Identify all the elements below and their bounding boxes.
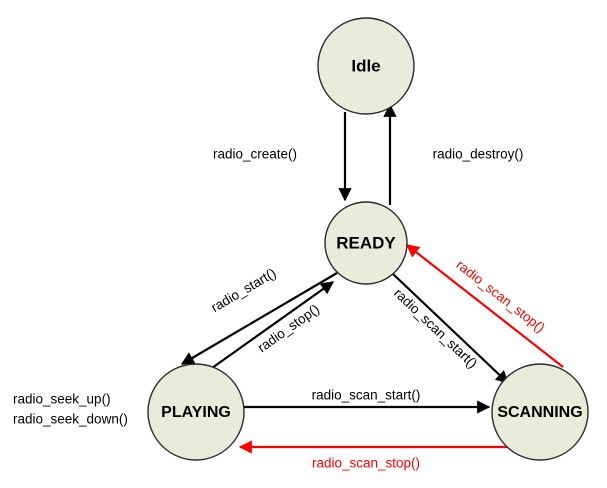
state-node-ready-label: READY (336, 233, 396, 252)
transition-radio-destroy: radio_destroy() (390, 105, 523, 205)
transition-radio-destroy-label: radio_destroy() (433, 147, 524, 162)
transition-radio-create: radio_create() (213, 112, 345, 200)
annotation-radio-seek-down: radio_seek_down() (13, 412, 128, 427)
transition-radio-scan-stop-diagonal-label: radio_scan_stop() (453, 257, 547, 335)
transition-radio-scan-stop-diagonal-arrow (407, 245, 563, 367)
state-node-idle[interactable]: Idle (318, 18, 414, 114)
transition-radio-start-label: radio_start() (208, 265, 278, 315)
state-node-scanning[interactable]: SCANNING (492, 364, 588, 460)
state-node-ready[interactable]: READY (325, 202, 407, 284)
transition-radio-scan-start-diagonal-label: radio_scan_start() (391, 285, 480, 371)
state-node-scanning-label: SCANNING (497, 404, 582, 421)
transition-radio-scan-start-horizontal: radio_scan_start() (244, 388, 489, 407)
transition-radio-stop-label: radio_stop() (255, 301, 322, 355)
transition-radio-create-label: radio_create() (213, 147, 297, 162)
state-node-idle-label: Idle (351, 56, 380, 75)
state-machine-diagram: radio_create() radio_destroy() radio_sta… (0, 0, 607, 488)
transition-radio-scan-stop-horizontal-label: radio_scan_stop() (312, 456, 420, 471)
transition-radio-scan-stop-horizontal: radio_scan_stop() (240, 447, 529, 471)
transition-radio-scan-start-horizontal-label: radio_scan_start() (312, 388, 421, 403)
state-node-playing-label: PLAYING (161, 404, 231, 421)
state-node-playing[interactable]: PLAYING (148, 364, 244, 460)
diagram-canvas: radio_create() radio_destroy() radio_sta… (0, 0, 607, 488)
annotation-radio-seek-up: radio_seek_up() (13, 392, 111, 407)
transition-radio-scan-stop-diagonal: radio_scan_stop() (407, 245, 563, 367)
